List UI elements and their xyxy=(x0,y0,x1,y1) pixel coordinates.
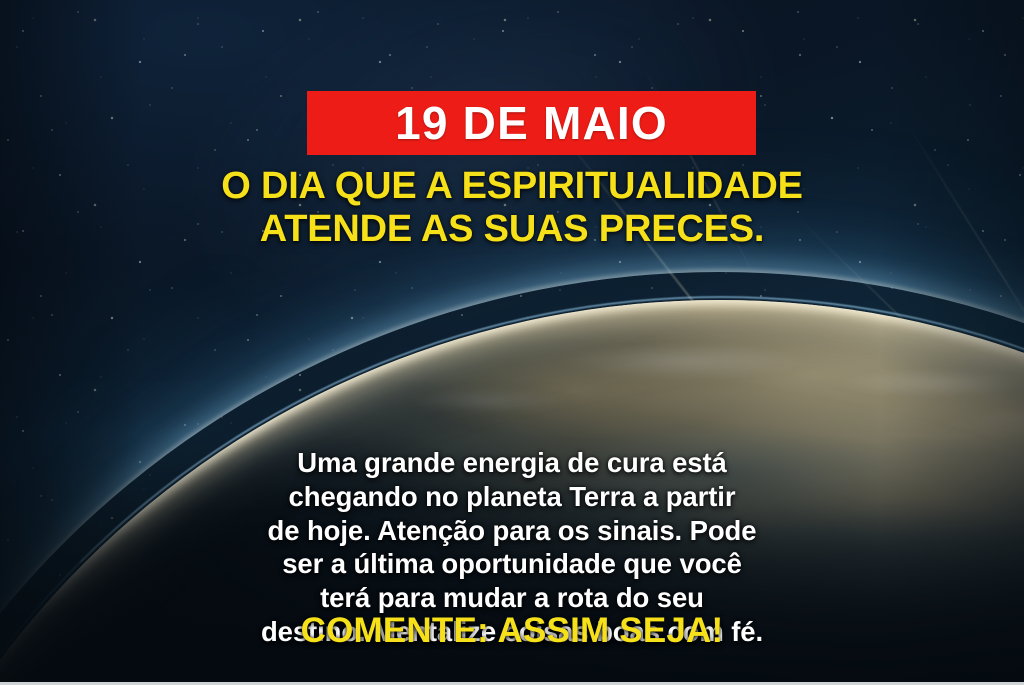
body-line-2: chegando no planeta Terra a partir xyxy=(48,480,976,514)
body-line-4: ser a última oportunidade que você xyxy=(48,547,976,581)
body-line-1: Uma grande energia de cura está xyxy=(48,446,976,480)
headline-line-1: O DIA QUE A ESPIRITUALIDADE xyxy=(32,165,992,208)
body-line-5: terá para mudar a rota do seu xyxy=(48,581,976,615)
headline: O DIA QUE A ESPIRITUALIDADE ATENDE AS SU… xyxy=(0,165,1024,251)
date-banner: 19 DE MAIO xyxy=(307,91,756,155)
call-to-action-text: COMENTE: ASSIM SEJA! xyxy=(0,613,1024,648)
poster-content: 19 DE MAIO O DIA QUE A ESPIRITUALIDADE A… xyxy=(0,0,1024,685)
body-line-3: de hoje. Atenção para os sinais. Pode xyxy=(48,514,976,548)
poster: 19 DE MAIO O DIA QUE A ESPIRITUALIDADE A… xyxy=(0,0,1024,685)
headline-line-2: ATENDE AS SUAS PRECES. xyxy=(32,208,992,251)
date-banner-label: 19 DE MAIO xyxy=(395,100,668,146)
